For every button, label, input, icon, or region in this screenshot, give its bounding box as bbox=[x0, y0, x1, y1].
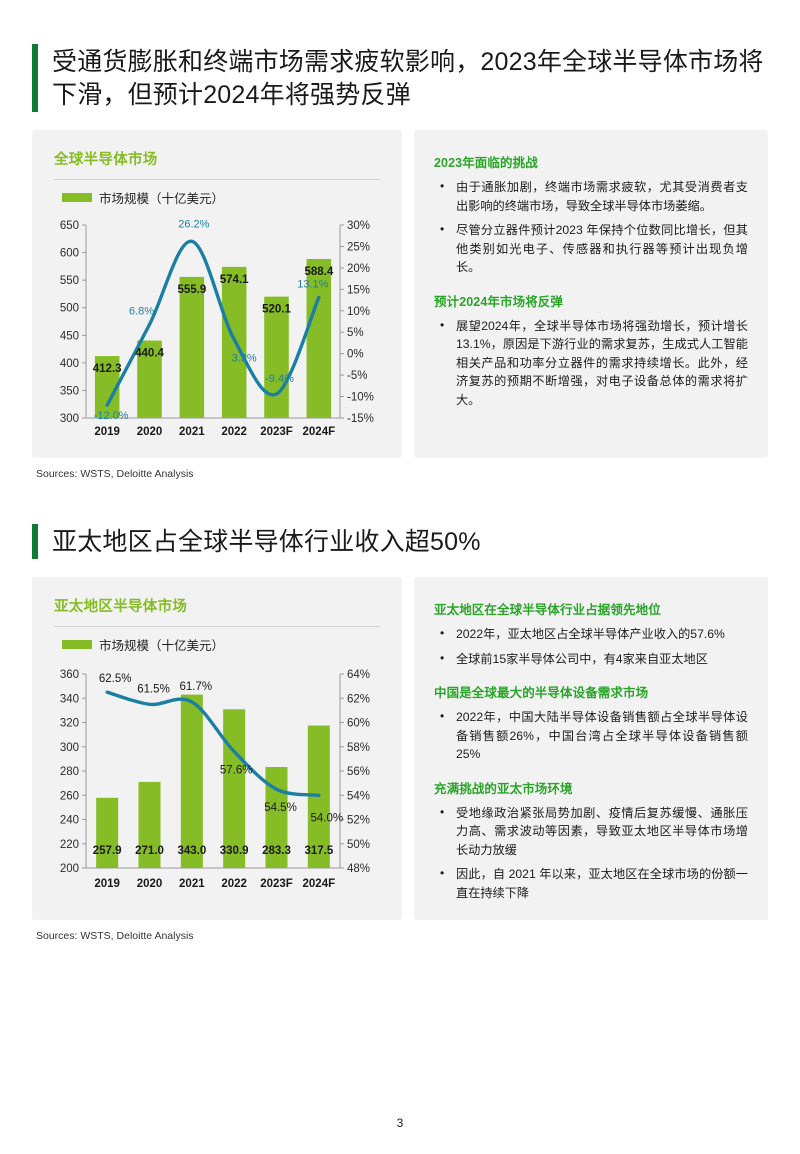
insight-block-2-title: 中国是全球最大的半导体设备需求市场 bbox=[434, 682, 748, 701]
insight-block-2-list: 展望2024年，全球半导体市场将强劲增长，预计增长13.1%，原因是下游行业的需… bbox=[434, 317, 748, 410]
chart-1-svg: 300350400450500550600650-15%-10%-5%0%5%1… bbox=[46, 211, 388, 446]
svg-text:550: 550 bbox=[60, 275, 79, 287]
svg-text:56%: 56% bbox=[347, 766, 370, 778]
svg-text:320: 320 bbox=[60, 718, 79, 730]
svg-text:-15%: -15% bbox=[347, 413, 374, 425]
section-1-title: 受通货膨胀和终端市场需求疲软影响，2023年全球半导体市场将下滑，但预计2024… bbox=[52, 44, 768, 112]
svg-text:400: 400 bbox=[60, 358, 79, 370]
chart-2-title: 亚太地区半导体市场 bbox=[54, 595, 388, 616]
svg-text:2022: 2022 bbox=[221, 426, 247, 438]
slide-page: 受通货膨胀和终端市场需求疲软影响，2023年全球半导体市场将下滑，但预计2024… bbox=[0, 0, 800, 1154]
insights-panel-apac: 亚太地区在全球半导体行业占据领先地位 2022年，亚太地区占全球半导体产业收入的… bbox=[414, 577, 768, 920]
svg-text:2024F: 2024F bbox=[303, 878, 336, 890]
svg-text:26.2%: 26.2% bbox=[178, 218, 209, 230]
svg-text:50%: 50% bbox=[347, 839, 370, 851]
svg-text:412.3: 412.3 bbox=[93, 363, 122, 375]
list-item: 2022年，中国大陆半导体设备销售额占全球半导体设备销售额26%，中国台湾占全球… bbox=[434, 708, 748, 764]
svg-text:240: 240 bbox=[60, 815, 79, 827]
insight-block-2-list: 2022年，中国大陆半导体设备销售额占全球半导体设备销售额26%，中国台湾占全球… bbox=[434, 708, 748, 764]
section-2-heading: 亚太地区占全球半导体行业收入超50% bbox=[32, 524, 768, 559]
svg-text:52%: 52% bbox=[347, 815, 370, 827]
svg-text:2019: 2019 bbox=[94, 878, 120, 890]
svg-text:-12.0%: -12.0% bbox=[94, 410, 129, 422]
legend-label-market-size: 市场规模（十亿美元） bbox=[99, 188, 224, 207]
svg-text:2023F: 2023F bbox=[260, 878, 293, 890]
list-item: 尽管分立器件预计2023 年保持个位数同比增长，但其他类别如光电子、传感器和执行… bbox=[434, 221, 748, 277]
svg-text:6.8%: 6.8% bbox=[129, 306, 154, 318]
svg-text:200: 200 bbox=[60, 863, 79, 875]
svg-text:61.5%: 61.5% bbox=[137, 683, 170, 695]
svg-text:2020: 2020 bbox=[137, 878, 163, 890]
sources-2: Sources: WSTS, Deloitte Analysis bbox=[36, 930, 768, 942]
svg-text:600: 600 bbox=[60, 248, 79, 260]
svg-text:300: 300 bbox=[60, 742, 79, 754]
svg-text:64%: 64% bbox=[347, 669, 370, 681]
svg-text:360: 360 bbox=[60, 669, 79, 681]
section-2-title: 亚太地区占全球半导体行业收入超50% bbox=[52, 524, 481, 559]
section-accent-bar bbox=[32, 524, 38, 559]
svg-text:280: 280 bbox=[60, 766, 79, 778]
chart-2: 20022024026028030032034036048%50%52%54%5… bbox=[46, 658, 388, 898]
svg-text:2020: 2020 bbox=[137, 426, 163, 438]
svg-text:520.1: 520.1 bbox=[262, 304, 291, 316]
svg-text:54.5%: 54.5% bbox=[264, 802, 297, 814]
chart-panel-global: 全球半导体市场 市场规模（十亿美元） 300350400450500550600… bbox=[32, 130, 402, 458]
svg-text:330.9: 330.9 bbox=[220, 845, 249, 857]
svg-text:15%: 15% bbox=[347, 284, 370, 296]
divider bbox=[54, 179, 380, 180]
svg-text:220: 220 bbox=[60, 839, 79, 851]
insight-block-challenges: 2023年面临的挑战 由于通胀加剧，终端市场需求疲软，尤其受消费者支出影响的终端… bbox=[434, 152, 748, 277]
list-item: 全球前15家半导体公司中，有4家来自亚太地区 bbox=[434, 650, 748, 669]
svg-text:260: 260 bbox=[60, 790, 79, 802]
insight-block-2-title: 预计2024年市场将反弹 bbox=[434, 291, 748, 310]
svg-text:650: 650 bbox=[60, 220, 79, 232]
svg-text:62.5%: 62.5% bbox=[99, 673, 132, 685]
insight-block-challenging-env: 充满挑战的亚太市场环境 受地缘政治紧张局势加剧、疫情后复苏缓慢、通胀压力高、需求… bbox=[434, 778, 748, 903]
svg-text:30%: 30% bbox=[347, 220, 370, 232]
insight-block-apac-lead: 亚太地区在全球半导体行业占据领先地位 2022年，亚太地区占全球半导体产业收入的… bbox=[434, 599, 748, 668]
list-item: 展望2024年，全球半导体市场将强劲增长，预计增长13.1%，原因是下游行业的需… bbox=[434, 317, 748, 410]
svg-text:555.9: 555.9 bbox=[177, 284, 206, 296]
svg-text:48%: 48% bbox=[347, 863, 370, 875]
svg-text:58%: 58% bbox=[347, 742, 370, 754]
svg-text:340: 340 bbox=[60, 693, 79, 705]
svg-text:0%: 0% bbox=[347, 349, 364, 361]
insight-block-1-title: 2023年面临的挑战 bbox=[434, 152, 748, 171]
list-item: 由于通胀加剧，终端市场需求疲软，尤其受消费者支出影响的终端市场，导致全球半导体市… bbox=[434, 178, 748, 215]
svg-text:500: 500 bbox=[60, 303, 79, 315]
svg-text:20%: 20% bbox=[347, 263, 370, 275]
svg-text:350: 350 bbox=[60, 385, 79, 397]
svg-text:300: 300 bbox=[60, 413, 79, 425]
legend-swatch-market-size bbox=[62, 193, 92, 202]
legend-label-market-size: 市场规模（十亿美元） bbox=[99, 635, 224, 654]
svg-text:57.6%: 57.6% bbox=[220, 765, 253, 777]
svg-text:3.3%: 3.3% bbox=[232, 353, 257, 365]
svg-text:574.1: 574.1 bbox=[220, 274, 249, 286]
insight-block-china-equipment: 中国是全球最大的半导体设备需求市场 2022年，中国大陆半导体设备销售额占全球半… bbox=[434, 682, 748, 764]
legend-swatch-market-size bbox=[62, 640, 92, 649]
section-1-heading: 受通货膨胀和终端市场需求疲软影响，2023年全球半导体市场将下滑，但预计2024… bbox=[32, 44, 768, 112]
svg-text:450: 450 bbox=[60, 330, 79, 342]
svg-text:588.4: 588.4 bbox=[304, 266, 333, 278]
svg-text:2022: 2022 bbox=[221, 878, 247, 890]
svg-text:257.9: 257.9 bbox=[93, 845, 122, 857]
section-1-content-row: 全球半导体市场 市场规模（十亿美元） 300350400450500550600… bbox=[32, 130, 768, 458]
svg-text:10%: 10% bbox=[347, 306, 370, 318]
svg-text:61.7%: 61.7% bbox=[180, 681, 213, 693]
svg-text:2021: 2021 bbox=[179, 426, 205, 438]
insights-panel-global: 2023年面临的挑战 由于通胀加剧，终端市场需求疲软，尤其受消费者支出影响的终端… bbox=[414, 130, 768, 458]
svg-text:271.0: 271.0 bbox=[135, 845, 164, 857]
section-accent-bar bbox=[32, 44, 38, 112]
list-item: 受地缘政治紧张局势加剧、疫情后复苏缓慢、通胀压力高、需求波动等因素，导致亚太地区… bbox=[434, 804, 748, 860]
svg-text:2023F: 2023F bbox=[260, 426, 293, 438]
chart-1-title: 全球半导体市场 bbox=[54, 148, 388, 169]
svg-text:60%: 60% bbox=[347, 718, 370, 730]
svg-text:2021: 2021 bbox=[179, 878, 205, 890]
svg-text:317.5: 317.5 bbox=[304, 845, 333, 857]
svg-text:283.3: 283.3 bbox=[262, 845, 291, 857]
svg-text:54%: 54% bbox=[347, 790, 370, 802]
svg-text:2019: 2019 bbox=[94, 426, 120, 438]
insight-block-3-list: 受地缘政治紧张局势加剧、疫情后复苏缓慢、通胀压力高、需求波动等因素，导致亚太地区… bbox=[434, 804, 748, 903]
svg-text:343.0: 343.0 bbox=[177, 845, 206, 857]
insight-block-1-title: 亚太地区在全球半导体行业占据领先地位 bbox=[434, 599, 748, 618]
page-number: 3 bbox=[0, 1116, 800, 1130]
insight-block-1-list: 由于通胀加剧，终端市场需求疲软，尤其受消费者支出影响的终端市场，导致全球半导体市… bbox=[434, 178, 748, 277]
svg-text:5%: 5% bbox=[347, 327, 364, 339]
chart-2-legend: 市场规模（十亿美元） bbox=[62, 635, 388, 654]
svg-text:-10%: -10% bbox=[347, 392, 374, 404]
divider bbox=[54, 626, 380, 627]
sources-1: Sources: WSTS, Deloitte Analysis bbox=[36, 468, 768, 480]
svg-text:25%: 25% bbox=[347, 241, 370, 253]
svg-text:2024F: 2024F bbox=[303, 426, 336, 438]
svg-text:13.1%: 13.1% bbox=[297, 278, 328, 290]
svg-text:-5%: -5% bbox=[347, 370, 367, 382]
chart-panel-apac: 亚太地区半导体市场 市场规模（十亿美元） 2002202402602803003… bbox=[32, 577, 402, 920]
section-2-content-row: 亚太地区半导体市场 市场规模（十亿美元） 2002202402602803003… bbox=[32, 577, 768, 920]
insight-block-rebound: 预计2024年市场将反弹 展望2024年，全球半导体市场将强劲增长，预计增长13… bbox=[434, 291, 748, 410]
svg-text:440.4: 440.4 bbox=[135, 348, 164, 360]
svg-text:54.0%: 54.0% bbox=[311, 812, 344, 824]
svg-text:-9.4%: -9.4% bbox=[265, 373, 294, 385]
svg-text:62%: 62% bbox=[347, 693, 370, 705]
insight-block-3-title: 充满挑战的亚太市场环境 bbox=[434, 778, 748, 797]
chart-1: 300350400450500550600650-15%-10%-5%0%5%1… bbox=[46, 211, 388, 446]
chart-2-svg: 20022024026028030032034036048%50%52%54%5… bbox=[46, 658, 388, 898]
list-item: 因此，自 2021 年以来，亚太地区在全球市场的份额一直在持续下降 bbox=[434, 865, 748, 902]
insight-block-1-list: 2022年，亚太地区占全球半导体产业收入的57.6% 全球前15家半导体公司中，… bbox=[434, 625, 748, 668]
chart-1-legend: 市场规模（十亿美元） bbox=[62, 188, 388, 207]
list-item: 2022年，亚太地区占全球半导体产业收入的57.6% bbox=[434, 625, 748, 644]
